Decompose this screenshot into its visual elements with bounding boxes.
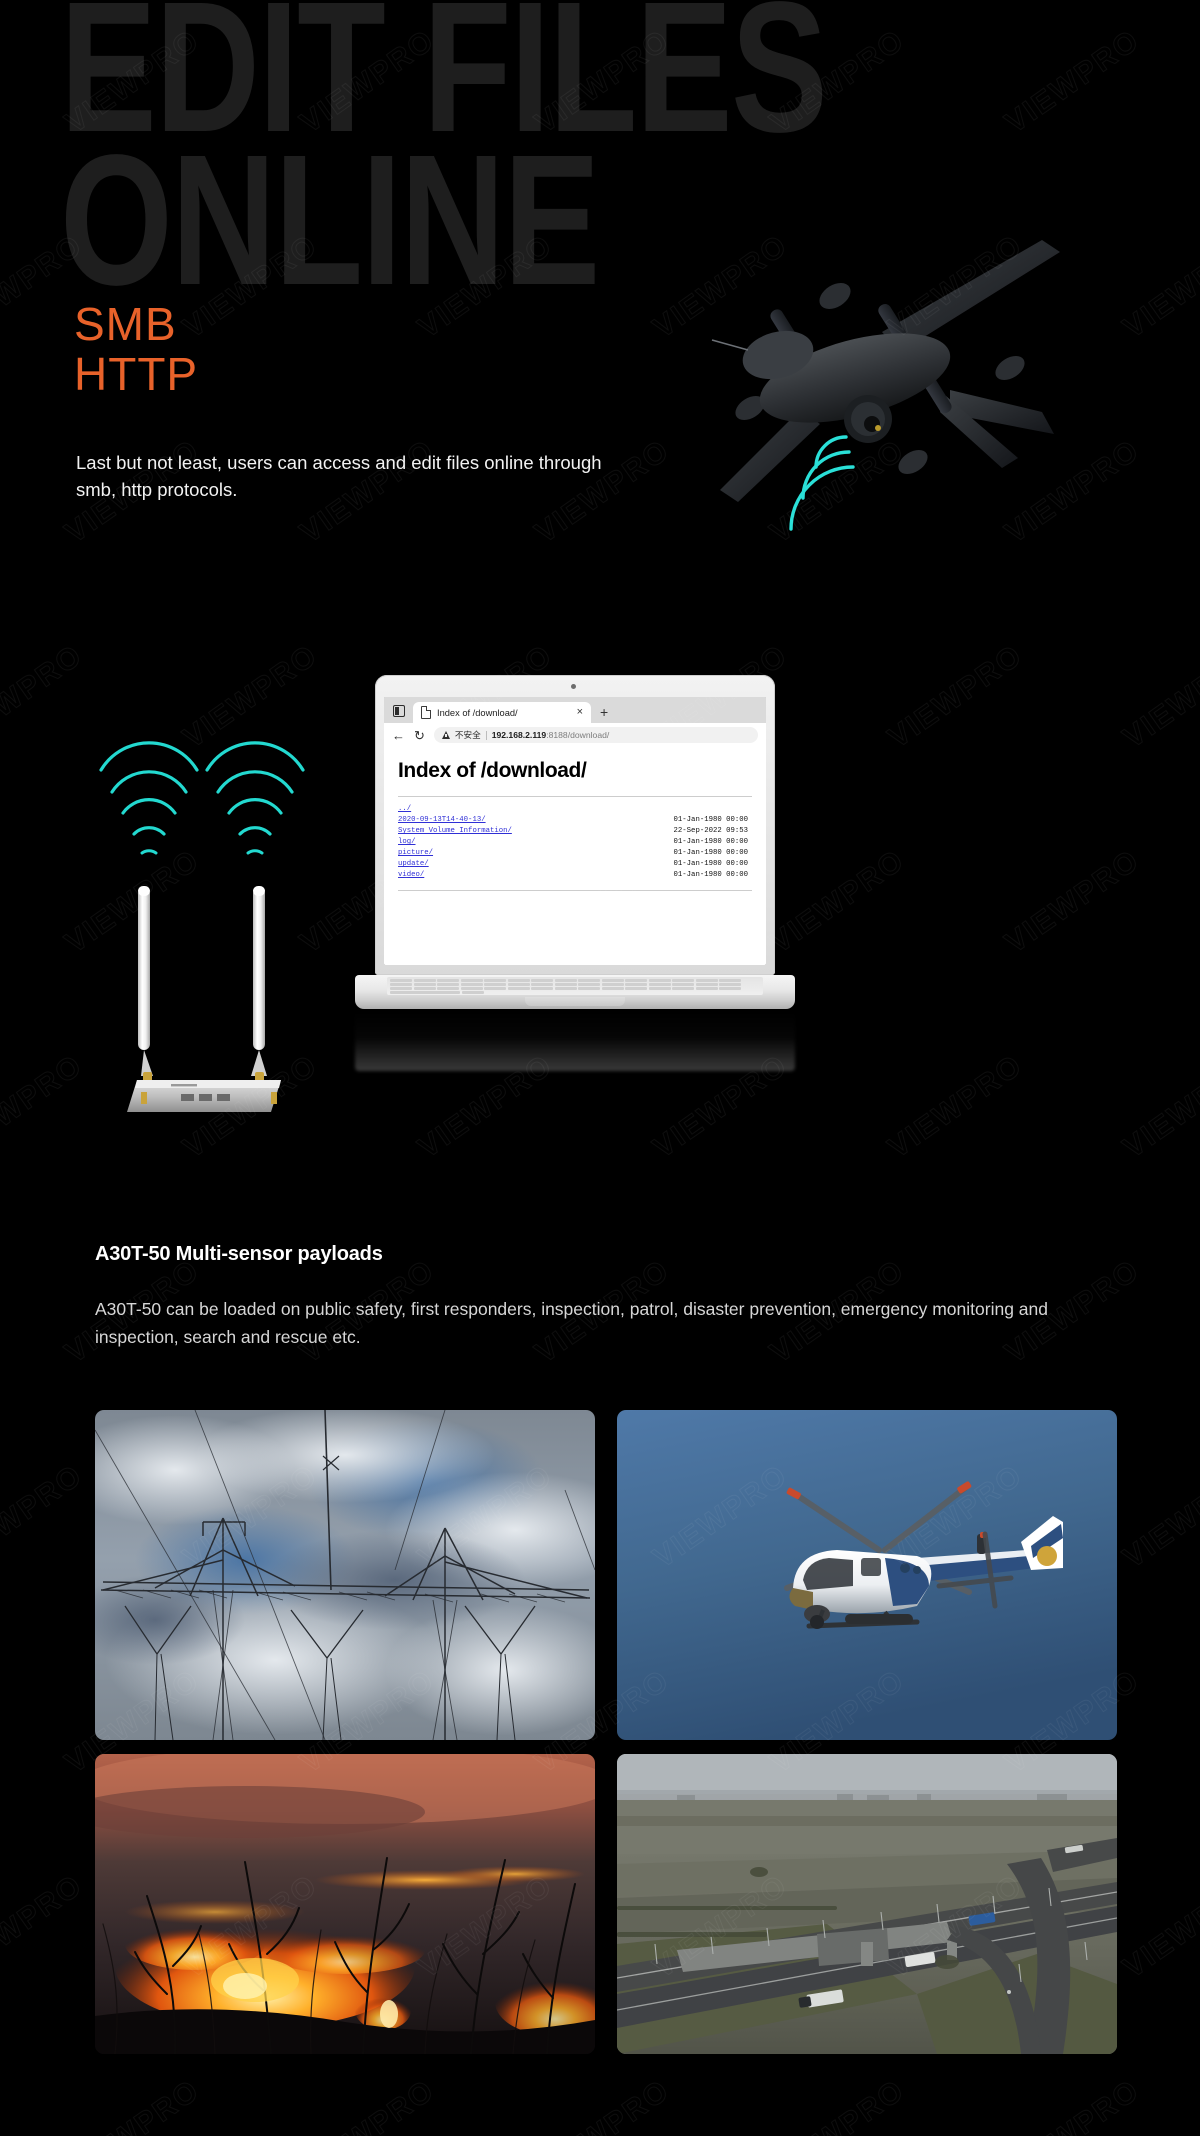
listing-link[interactable]: System Volume Information/	[398, 826, 512, 837]
antenna-right	[251, 886, 267, 1084]
keyboard-key	[578, 983, 600, 986]
browser-tab-active[interactable]: Index of /download/ ×	[413, 702, 591, 723]
new-tab-icon[interactable]: +	[600, 705, 608, 719]
highway-svg	[617, 1754, 1117, 2054]
protocol-http-label: HTTP	[74, 350, 198, 400]
listing-date: 01-Jan-1980 00:00	[674, 848, 752, 859]
listing-row[interactable]: 2020-09-13T14-40-13/01-Jan-1980 00:00	[398, 815, 752, 826]
laptop-lid: Index of /download/ × + ← ↻ 不安全	[375, 675, 775, 975]
keyboard-key	[508, 979, 530, 982]
keyboard-key	[625, 987, 647, 990]
browser-tab-strip: Index of /download/ × +	[384, 697, 766, 723]
listing-link[interactable]: picture/	[398, 848, 433, 859]
watermark-text: VIEWPRO	[294, 2073, 441, 2136]
highway-interchange-photo	[617, 1754, 1117, 2054]
wifi-signal-right	[207, 743, 303, 853]
listing-row[interactable]: log/01-Jan-1980 00:00	[398, 837, 752, 848]
listing-link[interactable]: 2020-09-13T14-40-13/	[398, 815, 486, 826]
listing-date: 01-Jan-1980 00:00	[674, 815, 752, 826]
watermark-text: VIEWPRO	[764, 2073, 911, 2136]
listing-date	[748, 804, 752, 815]
watermark-text: VIEWPRO	[0, 1458, 89, 1575]
keyboard-key	[390, 991, 460, 994]
browser-nav-bar: ← ↻ 不安全 192.168.2.119:8188/download/	[384, 723, 766, 747]
browser-window: Index of /download/ × + ← ↻ 不安全	[384, 697, 766, 965]
directory-listing: ../2020-09-13T14-40-13/01-Jan-1980 00:00…	[398, 804, 752, 882]
keyboard-key	[672, 987, 694, 990]
listing-date: 01-Jan-1980 00:00	[674, 859, 752, 870]
keyboard-key	[414, 979, 436, 982]
keyboard-key	[437, 987, 459, 990]
omnibox-divider	[486, 731, 487, 740]
keyboard-key	[484, 979, 506, 982]
listing-row[interactable]: ../	[398, 804, 752, 815]
watermark-text: VIEWPRO	[999, 2073, 1146, 2136]
keyboard-key	[602, 987, 624, 990]
keyboard-key	[672, 979, 694, 982]
drone-illustration	[650, 200, 1070, 540]
listing-date: 22-Sep-2022 09:53	[674, 826, 752, 837]
router-body	[127, 1080, 281, 1112]
close-icon[interactable]: ×	[575, 707, 585, 718]
laptop-trackpad	[525, 997, 625, 1006]
watermark-text: VIEWPRO	[529, 2073, 676, 2136]
router-svg	[85, 720, 335, 1120]
payload-description: A30T-50 can be loaded on public safety, …	[95, 1295, 1075, 1352]
listing-link[interactable]: log/	[398, 837, 416, 848]
warning-triangle-icon	[442, 731, 450, 739]
page-title: Index of /download/	[398, 759, 752, 783]
page-divider-top	[398, 796, 752, 797]
directory-index-page: Index of /download/ ../2020-09-13T14-40-…	[384, 747, 766, 965]
keyboard-key	[672, 983, 694, 986]
listing-date: 01-Jan-1980 00:00	[674, 837, 752, 848]
keyboard-key	[625, 979, 647, 982]
laptop-base	[355, 975, 795, 1009]
laptop-webcam	[571, 684, 576, 689]
wildfire-svg	[95, 1754, 595, 2054]
protocol-labels: SMB HTTP	[74, 300, 198, 399]
watermark-text: VIEWPRO	[1117, 1458, 1200, 1575]
drone-signal-arcs	[791, 437, 853, 529]
listing-link[interactable]: video/	[398, 870, 424, 881]
watermark-text: VIEWPRO	[0, 1868, 89, 1985]
keyboard-key	[414, 983, 436, 986]
keyboard-key	[461, 983, 483, 986]
keyboard-key	[555, 983, 577, 986]
keyboard-key	[578, 987, 600, 990]
keyboard-key	[414, 987, 436, 990]
power-tower-svg	[95, 1410, 595, 1740]
keyboard-key	[578, 979, 600, 982]
browser-tab-title: Index of /download/	[437, 708, 569, 718]
keyboard-key	[602, 979, 624, 982]
hero-description: Last but not least, users can access and…	[76, 450, 636, 504]
keyboard-key	[390, 983, 412, 986]
keyboard-key	[508, 983, 530, 986]
laptop-display: Index of /download/ × + ← ↻ 不安全	[384, 697, 766, 965]
keyboard-key	[437, 979, 459, 982]
keyboard-key	[602, 983, 624, 986]
keyboard-key	[719, 983, 741, 986]
laptop-reflection	[355, 1011, 795, 1071]
hero-title-line-2: ONLINE	[60, 117, 599, 324]
back-arrow-icon[interactable]: ←	[392, 729, 405, 742]
wifi-signal-left	[101, 743, 197, 853]
keyboard-key	[555, 979, 577, 982]
keyboard-key	[649, 983, 671, 986]
laptop-illustration: Index of /download/ × + ← ↻ 不安全	[375, 675, 815, 1050]
keyboard-key	[719, 987, 741, 990]
tab-search-icon[interactable]	[393, 705, 405, 717]
address-bar-url: 192.168.2.119:8188/download/	[492, 730, 610, 740]
keyboard-key	[625, 983, 647, 986]
url-path: :8188/download/	[546, 730, 609, 740]
keyboard-key	[462, 991, 484, 994]
reload-icon[interactable]: ↻	[414, 729, 425, 742]
keyboard-key	[719, 979, 741, 982]
page-file-icon	[421, 706, 431, 719]
power-transmission-tower-photo	[95, 1410, 595, 1740]
payload-heading: A30T-50 Multi-sensor payloads	[95, 1243, 383, 1266]
keyboard-key	[649, 979, 671, 982]
listing-date: 01-Jan-1980 00:00	[674, 870, 752, 881]
keyboard-key	[696, 979, 718, 982]
keyboard-key	[484, 983, 506, 986]
watermark-text: VIEWPRO	[1117, 1868, 1200, 1985]
listing-row[interactable]: System Volume Information/22-Sep-2022 09…	[398, 826, 752, 837]
watermark-text: VIEWPRO	[59, 2073, 206, 2136]
listing-link[interactable]: ../	[398, 804, 411, 815]
url-host: 192.168.2.119	[492, 730, 546, 740]
connectivity-section: Index of /download/ × + ← ↻ 不安全	[0, 600, 1200, 1160]
keyboard-key	[484, 987, 506, 990]
listing-row[interactable]: picture/01-Jan-1980 00:00	[398, 848, 752, 859]
wildfire-photo	[95, 1754, 595, 2054]
protocol-smb-label: SMB	[74, 300, 198, 350]
keyboard-key	[531, 987, 553, 990]
drone-svg	[650, 200, 1070, 540]
keyboard-key	[531, 983, 553, 986]
security-status-label: 不安全	[455, 729, 481, 741]
wireless-router-illustration	[85, 720, 335, 1120]
keyboard-key	[555, 987, 577, 990]
keyboard-key	[508, 987, 530, 990]
listing-row[interactable]: video/01-Jan-1980 00:00	[398, 870, 752, 881]
keyboard-key	[649, 987, 671, 990]
hero-section: EDIT FILES ONLINE SMB HTTP Last but not …	[0, 0, 1200, 600]
keyboard-key	[437, 983, 459, 986]
keyboard-key	[390, 979, 412, 982]
keyboard-key	[461, 979, 483, 982]
keyboard-key	[390, 987, 412, 990]
helicopter-svg	[617, 1410, 1117, 1740]
laptop-keyboard	[387, 977, 763, 995]
page-divider-bottom	[398, 890, 752, 891]
police-helicopter-photo	[617, 1410, 1117, 1740]
keyboard-key	[531, 979, 553, 982]
address-bar[interactable]: 不安全 192.168.2.119:8188/download/	[434, 727, 758, 743]
keyboard-key	[696, 987, 718, 990]
antenna-left	[138, 886, 153, 1084]
keyboard-key	[461, 987, 483, 990]
listing-row[interactable]: update/01-Jan-1980 00:00	[398, 859, 752, 870]
listing-link[interactable]: update/	[398, 859, 429, 870]
keyboard-key	[696, 983, 718, 986]
